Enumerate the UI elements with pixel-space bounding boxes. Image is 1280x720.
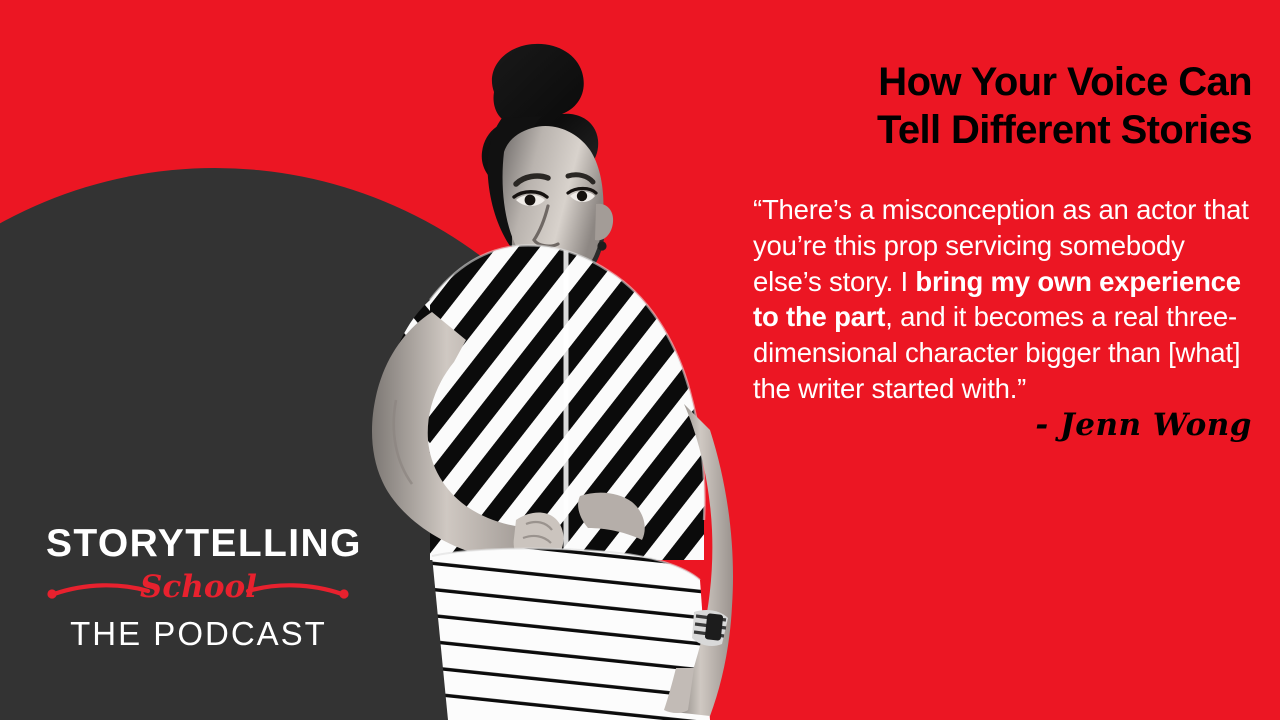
episode-title: How Your Voice Can Tell Different Storie… [700, 58, 1252, 154]
podcast-episode-graphic: How Your Voice Can Tell Different Storie… [0, 0, 1280, 720]
episode-title-line-2: Tell Different Stories [700, 106, 1252, 154]
logo-wordmark-school: School [46, 569, 351, 606]
pull-quote: “There’s a misconception as an actor tha… [753, 192, 1253, 407]
quote-attribution: - Jenn Wong [760, 407, 1252, 443]
podcast-logo: STORYTELLING School THE PODCAST [46, 524, 351, 650]
logo-wordmark-the-podcast: THE PODCAST [46, 617, 351, 650]
logo-wordmark-storytelling: STORYTELLING [46, 524, 351, 563]
wristwatch-detail [692, 610, 728, 646]
episode-title-line-1: How Your Voice Can [700, 58, 1252, 106]
logo-script-row: School [46, 567, 351, 611]
